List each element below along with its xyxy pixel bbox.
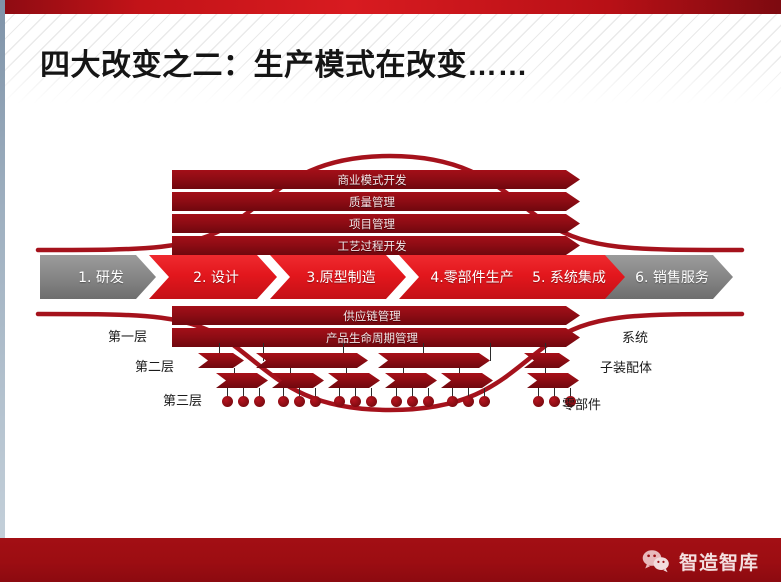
slide-canvas: 四大改变之二：生产模式在改变…… 商业模式开发 质量管理 项目管理 工艺过程开发…: [0, 0, 781, 582]
top-bar-1-label: 质量管理: [349, 194, 395, 210]
bottom-bar-0-label: 供应链管理: [343, 308, 401, 324]
leaf-dot[interactable]: [391, 396, 402, 407]
watermark: 智造智库: [642, 548, 759, 574]
leaf-dot[interactable]: [222, 396, 233, 407]
layer-label-right-1: 系统: [622, 327, 648, 346]
layer-label-left-2: 第二层: [135, 356, 174, 375]
leaf-dot[interactable]: [366, 396, 377, 407]
process-step-3-label: 3.原型制造: [306, 267, 375, 287]
top-bar-1[interactable]: 质量管理: [172, 192, 580, 211]
top-bar-3[interactable]: 工艺过程开发: [172, 236, 580, 255]
watermark-text: 智造智库: [679, 548, 759, 575]
process-step-1-label: 1. 研发: [78, 267, 124, 287]
leaf-dot[interactable]: [463, 396, 474, 407]
process-step-6-label: 6. 销售服务: [635, 267, 709, 287]
process-diagram: 商业模式开发 质量管理 项目管理 工艺过程开发 1. 研发 2. 设计 3.原型…: [0, 104, 781, 434]
process-step-5-label: 5. 系统集成: [532, 267, 606, 287]
process-step-4-label: 4.零部件生产: [430, 267, 513, 287]
leaf-dot[interactable]: [423, 396, 434, 407]
leaf-dot[interactable]: [278, 396, 289, 407]
leaf-dot[interactable]: [294, 396, 305, 407]
process-step-1[interactable]: 1. 研发: [40, 255, 156, 299]
top-bar-0-label: 商业模式开发: [338, 172, 407, 188]
layer-label-left-3: 第三层: [163, 390, 202, 409]
page-title: 四大改变之二：生产模式在改变……: [40, 40, 528, 84]
connector-l1-4: [490, 343, 491, 361]
leaf-dot[interactable]: [549, 396, 560, 407]
top-red-bar: [0, 0, 781, 14]
layer2-node-1[interactable]: [256, 353, 368, 368]
leaf-dot[interactable]: [350, 396, 361, 407]
top-bar-3-label: 工艺过程开发: [338, 238, 407, 254]
top-bar-2-label: 项目管理: [349, 216, 395, 232]
leaf-dot[interactable]: [407, 396, 418, 407]
process-step-2-label: 2. 设计: [193, 267, 239, 287]
process-step-3[interactable]: 3.原型制造: [270, 255, 406, 299]
leaf-dot[interactable]: [479, 396, 490, 407]
top-bar-2[interactable]: 项目管理: [172, 214, 580, 233]
leaf-dot[interactable]: [447, 396, 458, 407]
layer-label-left-1: 第一层: [108, 326, 147, 345]
leaf-dot[interactable]: [334, 396, 345, 407]
leaf-dot[interactable]: [533, 396, 544, 407]
leaf-dot[interactable]: [238, 396, 249, 407]
top-bar-0[interactable]: 商业模式开发: [172, 170, 580, 189]
layer2-node-2[interactable]: [378, 353, 490, 368]
leaf-dot[interactable]: [310, 396, 321, 407]
bottom-bar-1-label: 产品生命周期管理: [326, 330, 418, 346]
leaf-dot[interactable]: [254, 396, 265, 407]
bottom-bar-1[interactable]: 产品生命周期管理: [172, 328, 580, 347]
layer-label-right-2: 子装配体: [600, 357, 652, 376]
wechat-icon: [642, 549, 670, 573]
layer-label-right-3: 零部件: [562, 394, 601, 413]
bottom-bar-0[interactable]: 供应链管理: [172, 306, 580, 325]
